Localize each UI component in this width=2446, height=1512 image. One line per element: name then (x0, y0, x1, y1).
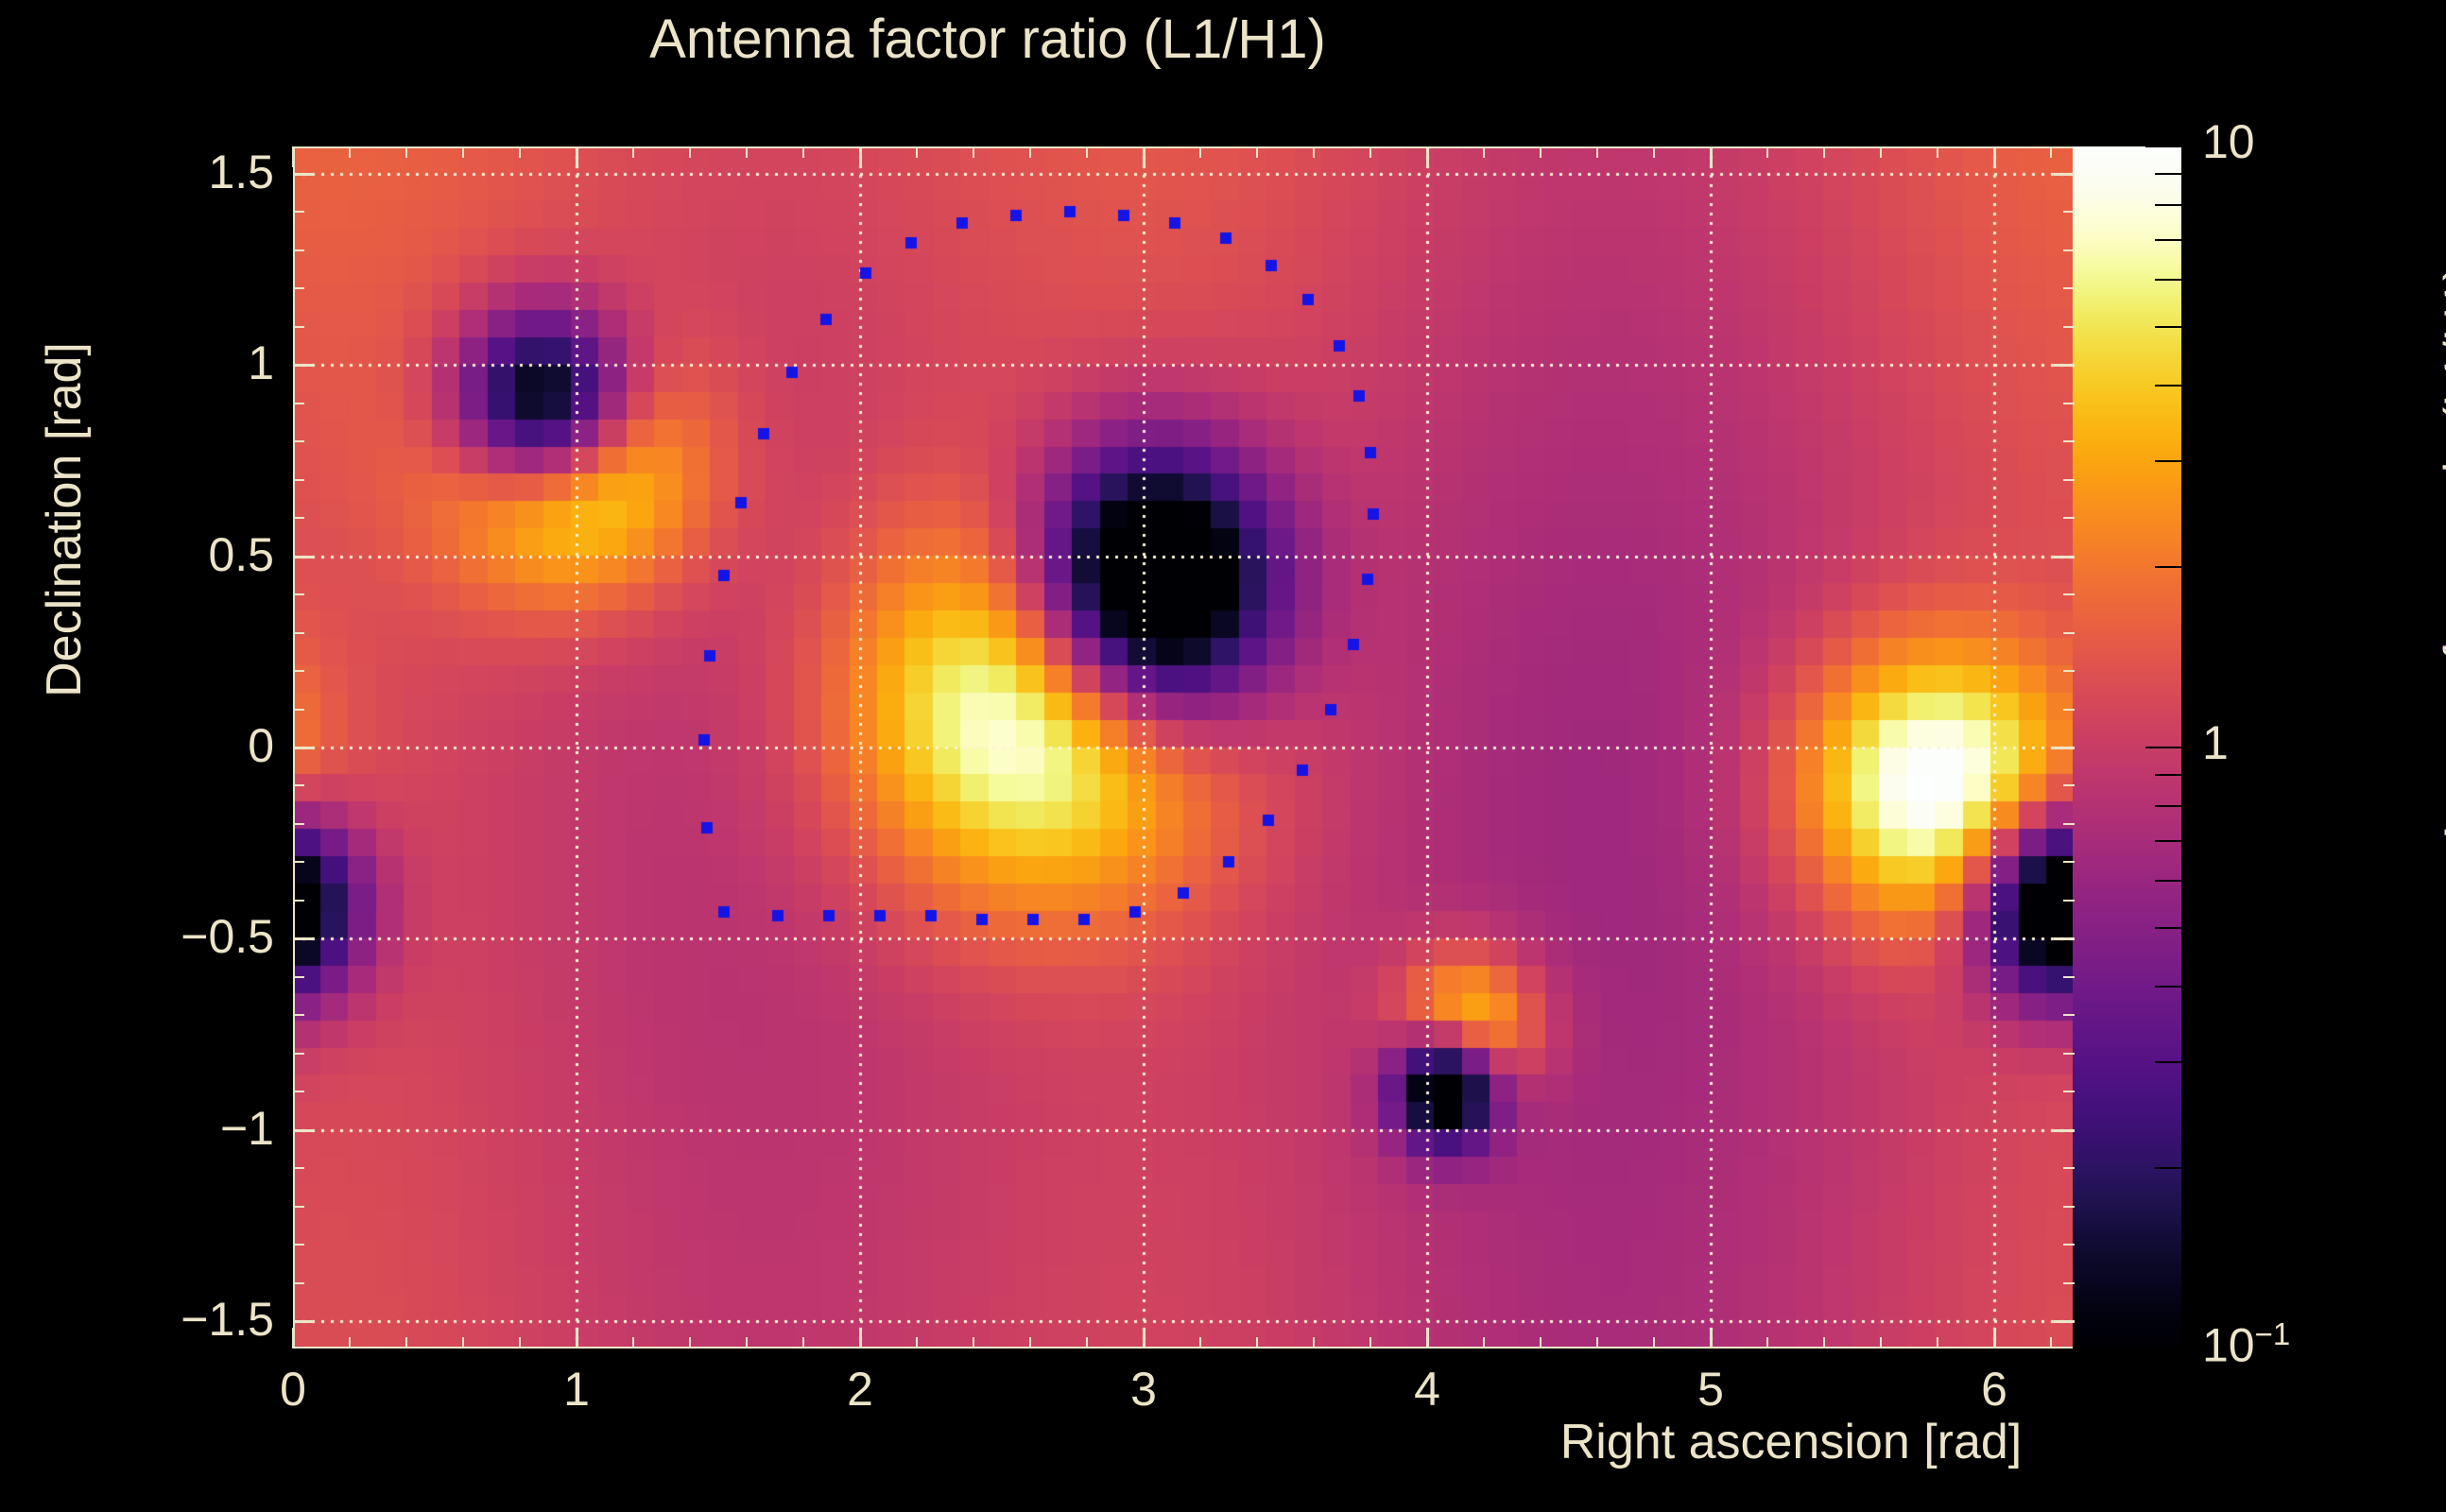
axis-tick-mark (293, 747, 304, 748)
axis-tick-mark (576, 146, 577, 158)
colorbar-tick (2155, 880, 2181, 882)
axis-tick-mark (462, 1337, 464, 1349)
axis-tick-mark (632, 1337, 634, 1349)
axis-tick-mark (293, 823, 304, 825)
axis-tick-mark (1086, 146, 1088, 158)
axis-tick-mark (632, 146, 634, 158)
colorbar-ticks (2073, 146, 2181, 1349)
axis-tick-mark (349, 1337, 351, 1349)
axis-tick-mark (2063, 823, 2075, 825)
axis-tick-mark (1086, 1337, 1088, 1349)
colorbar[interactable] (2073, 146, 2181, 1349)
axis-tick-mark (293, 976, 304, 978)
axis-tick-mark (2063, 1282, 2075, 1284)
colorbar-tick (2155, 326, 2181, 328)
axis-tick-mark (292, 1337, 294, 1349)
axis-tick-mark (1993, 1337, 1995, 1349)
axis-tick-mark (1823, 146, 1825, 158)
axis-tick-mark (293, 937, 304, 939)
colorbar-tick-label: 10−1 (2202, 1316, 2290, 1373)
axis-tick-mark (2063, 976, 2075, 978)
colorbar-tick (2155, 927, 2181, 929)
grid-and-overlay-canvas (293, 146, 2075, 1349)
axis-tick-mark (293, 287, 304, 289)
colorbar-tick (2155, 385, 2181, 387)
axis-tick-mark (859, 146, 861, 158)
axis-tick-mark (1426, 146, 1428, 158)
plot-root: Antenna factor ratio (L1/H1) 1.510.50−0.… (0, 0, 2446, 1512)
axis-tick-mark (405, 1337, 407, 1349)
colorbar-tick (2145, 146, 2181, 147)
axis-tick-mark (293, 632, 304, 634)
colorbar-tick (2155, 173, 2181, 175)
axis-tick-mark (1369, 146, 1371, 158)
axis-tick-mark (293, 211, 304, 213)
colorbar-tick (2155, 460, 2181, 462)
axis-tick-mark (2063, 593, 2075, 595)
axis-tick-mark (2063, 556, 2075, 558)
axis-tick-mark (1540, 146, 1542, 158)
axis-tick-mark (2063, 632, 2075, 634)
axis-tick-mark (293, 1053, 304, 1055)
axis-tick-mark (293, 556, 304, 558)
x-tick-label: 6 (1938, 1362, 2051, 1417)
axis-tick-mark (293, 479, 304, 481)
axis-tick-mark (973, 1337, 974, 1349)
axis-tick-mark (2050, 1337, 2052, 1349)
colorbar-tick (2155, 204, 2181, 206)
axis-tick-mark (1143, 1337, 1145, 1349)
axis-tick-mark (293, 440, 304, 442)
axis-tick-mark (1937, 1337, 1938, 1349)
axis-tick-mark (1766, 146, 1768, 158)
axis-tick-mark (802, 146, 804, 158)
axis-tick-mark (2063, 326, 2075, 328)
x-tick-label: 3 (1087, 1362, 1200, 1417)
x-axis-title: Right ascension [rad] (1507, 1414, 2075, 1470)
axis-tick-mark (1199, 146, 1201, 158)
axis-tick-mark (2063, 1053, 2075, 1055)
x-tick-label: 1 (520, 1362, 633, 1417)
axis-tick-mark (1313, 146, 1315, 158)
axis-tick-mark (293, 1282, 304, 1284)
axis-tick-mark (802, 1337, 804, 1349)
axis-tick-mark (1256, 146, 1258, 158)
axis-tick-mark (916, 146, 918, 158)
axis-tick-mark (519, 1337, 521, 1349)
axis-tick-mark (1823, 1337, 1825, 1349)
axis-tick-mark (1710, 1337, 1712, 1349)
axis-tick-mark (293, 1206, 304, 1208)
axis-tick-mark (973, 146, 974, 158)
axis-tick-mark (2063, 747, 2075, 748)
axis-tick-mark (689, 1337, 691, 1349)
axis-tick-mark (293, 517, 304, 519)
axis-tick-mark (1313, 1337, 1315, 1349)
axis-tick-mark (1029, 1337, 1031, 1349)
axis-tick-mark (916, 1337, 918, 1349)
axis-tick-mark (576, 1337, 577, 1349)
axis-tick-mark (1029, 146, 1031, 158)
axis-tick-mark (2050, 146, 2052, 158)
axis-tick-mark (293, 1167, 304, 1169)
axis-tick-mark (293, 1014, 304, 1016)
colorbar-tick-label: 10 (2202, 114, 2255, 169)
axis-tick-mark (1653, 146, 1655, 158)
axis-tick-mark (1426, 1337, 1428, 1349)
axis-tick-mark (2063, 1014, 2075, 1016)
axis-tick-mark (1256, 1337, 1258, 1349)
axis-tick-mark (1937, 146, 1938, 158)
colorbar-tick (2145, 1348, 2181, 1349)
axis-tick-mark (2063, 900, 2075, 902)
axis-tick-mark (1766, 1337, 1768, 1349)
colorbar-tick (2145, 747, 2181, 748)
axis-tick-mark (2063, 479, 2075, 481)
colorbar-tick (2155, 840, 2181, 842)
axis-tick-mark (293, 249, 304, 251)
axis-tick-mark (1653, 1337, 1655, 1349)
axis-tick-mark (2063, 211, 2075, 213)
axis-tick-mark (2063, 670, 2075, 672)
axis-tick-mark (1710, 146, 1712, 158)
axis-tick-mark (293, 900, 304, 902)
page-title: Antenna factor ratio (L1/H1) (0, 8, 1975, 71)
axis-tick-mark (519, 146, 521, 158)
axis-tick-mark (2063, 1091, 2075, 1092)
axis-tick-mark (1540, 1337, 1542, 1349)
axis-tick-mark (293, 670, 304, 672)
axis-tick-mark (293, 403, 304, 404)
axis-tick-mark (859, 1337, 861, 1349)
axis-tick-mark (2063, 1129, 2075, 1131)
axis-tick-mark (1483, 1337, 1485, 1349)
colorbar-tick (2155, 805, 2181, 807)
y-tick-label: 0 (85, 718, 274, 773)
colorbar-tick (2155, 774, 2181, 776)
axis-tick-mark (2063, 1167, 2075, 1169)
colorbar-tick (2155, 986, 2181, 988)
heatmap-plot-area[interactable] (293, 146, 2075, 1349)
axis-tick-mark (2063, 937, 2075, 939)
axis-tick-mark (405, 146, 407, 158)
axis-tick-mark (293, 784, 304, 786)
axis-tick-mark (2063, 861, 2075, 863)
colorbar-tick-label: 1 (2202, 715, 2229, 770)
axis-tick-mark (2063, 1206, 2075, 1208)
axis-tick-mark (292, 146, 294, 158)
axis-tick-mark (293, 593, 304, 595)
axis-tick-mark (293, 709, 304, 711)
axis-tick-mark (293, 326, 304, 328)
axis-tick-mark (2063, 709, 2075, 711)
axis-tick-mark (2063, 784, 2075, 786)
axis-tick-mark (2063, 173, 2075, 175)
axis-tick-mark (746, 1337, 748, 1349)
colorbar-tick (2155, 239, 2181, 241)
colorbar-tick (2155, 1061, 2181, 1063)
y-tick-label: 1.5 (85, 145, 274, 199)
x-tick-label: 2 (803, 1362, 917, 1417)
y-tick-label: −0.5 (85, 909, 274, 964)
axis-tick-mark (462, 146, 464, 158)
y-axis-title: Declination [rad] (36, 236, 93, 803)
axis-tick-mark (1483, 146, 1485, 158)
axis-tick-mark (2063, 1320, 2075, 1322)
axis-tick-mark (293, 364, 304, 366)
axis-tick-mark (1143, 146, 1145, 158)
x-tick-label: 4 (1370, 1362, 1484, 1417)
colorbar-tick (2155, 279, 2181, 281)
y-tick-label: −1 (85, 1101, 274, 1156)
y-tick-label: 0.5 (85, 527, 274, 582)
x-tick-label: 5 (1654, 1362, 1767, 1417)
axis-tick-mark (293, 1320, 304, 1322)
y-tick-label: 1 (85, 335, 274, 390)
axis-tick-mark (746, 146, 748, 158)
colorbar-tick (2155, 566, 2181, 568)
axis-tick-mark (293, 1244, 304, 1246)
axis-tick-mark (2063, 1244, 2075, 1246)
axis-tick-mark (1993, 146, 1995, 158)
axis-tick-mark (2063, 364, 2075, 366)
x-tick-label: 0 (236, 1362, 350, 1417)
axis-tick-mark (293, 861, 304, 863)
axis-tick-mark (293, 1129, 304, 1131)
axis-tick-mark (2063, 517, 2075, 519)
axis-tick-mark (1596, 146, 1598, 158)
axis-tick-mark (1880, 1337, 1882, 1349)
axis-tick-mark (1880, 146, 1882, 158)
axis-tick-mark (293, 173, 304, 175)
y-tick-label: −1.5 (85, 1292, 274, 1347)
colorbar-title: Antenna factor ratio (L1/H1) (2434, 150, 2446, 963)
axis-tick-mark (689, 146, 691, 158)
axis-tick-mark (2063, 440, 2075, 442)
axis-tick-mark (2063, 287, 2075, 289)
axis-tick-mark (2063, 403, 2075, 404)
axis-tick-mark (2063, 249, 2075, 251)
axis-tick-mark (293, 1091, 304, 1092)
axis-tick-mark (1369, 1337, 1371, 1349)
colorbar-tick (2155, 1167, 2181, 1169)
axis-tick-mark (349, 146, 351, 158)
axis-tick-mark (1596, 1337, 1598, 1349)
axis-tick-mark (1199, 1337, 1201, 1349)
